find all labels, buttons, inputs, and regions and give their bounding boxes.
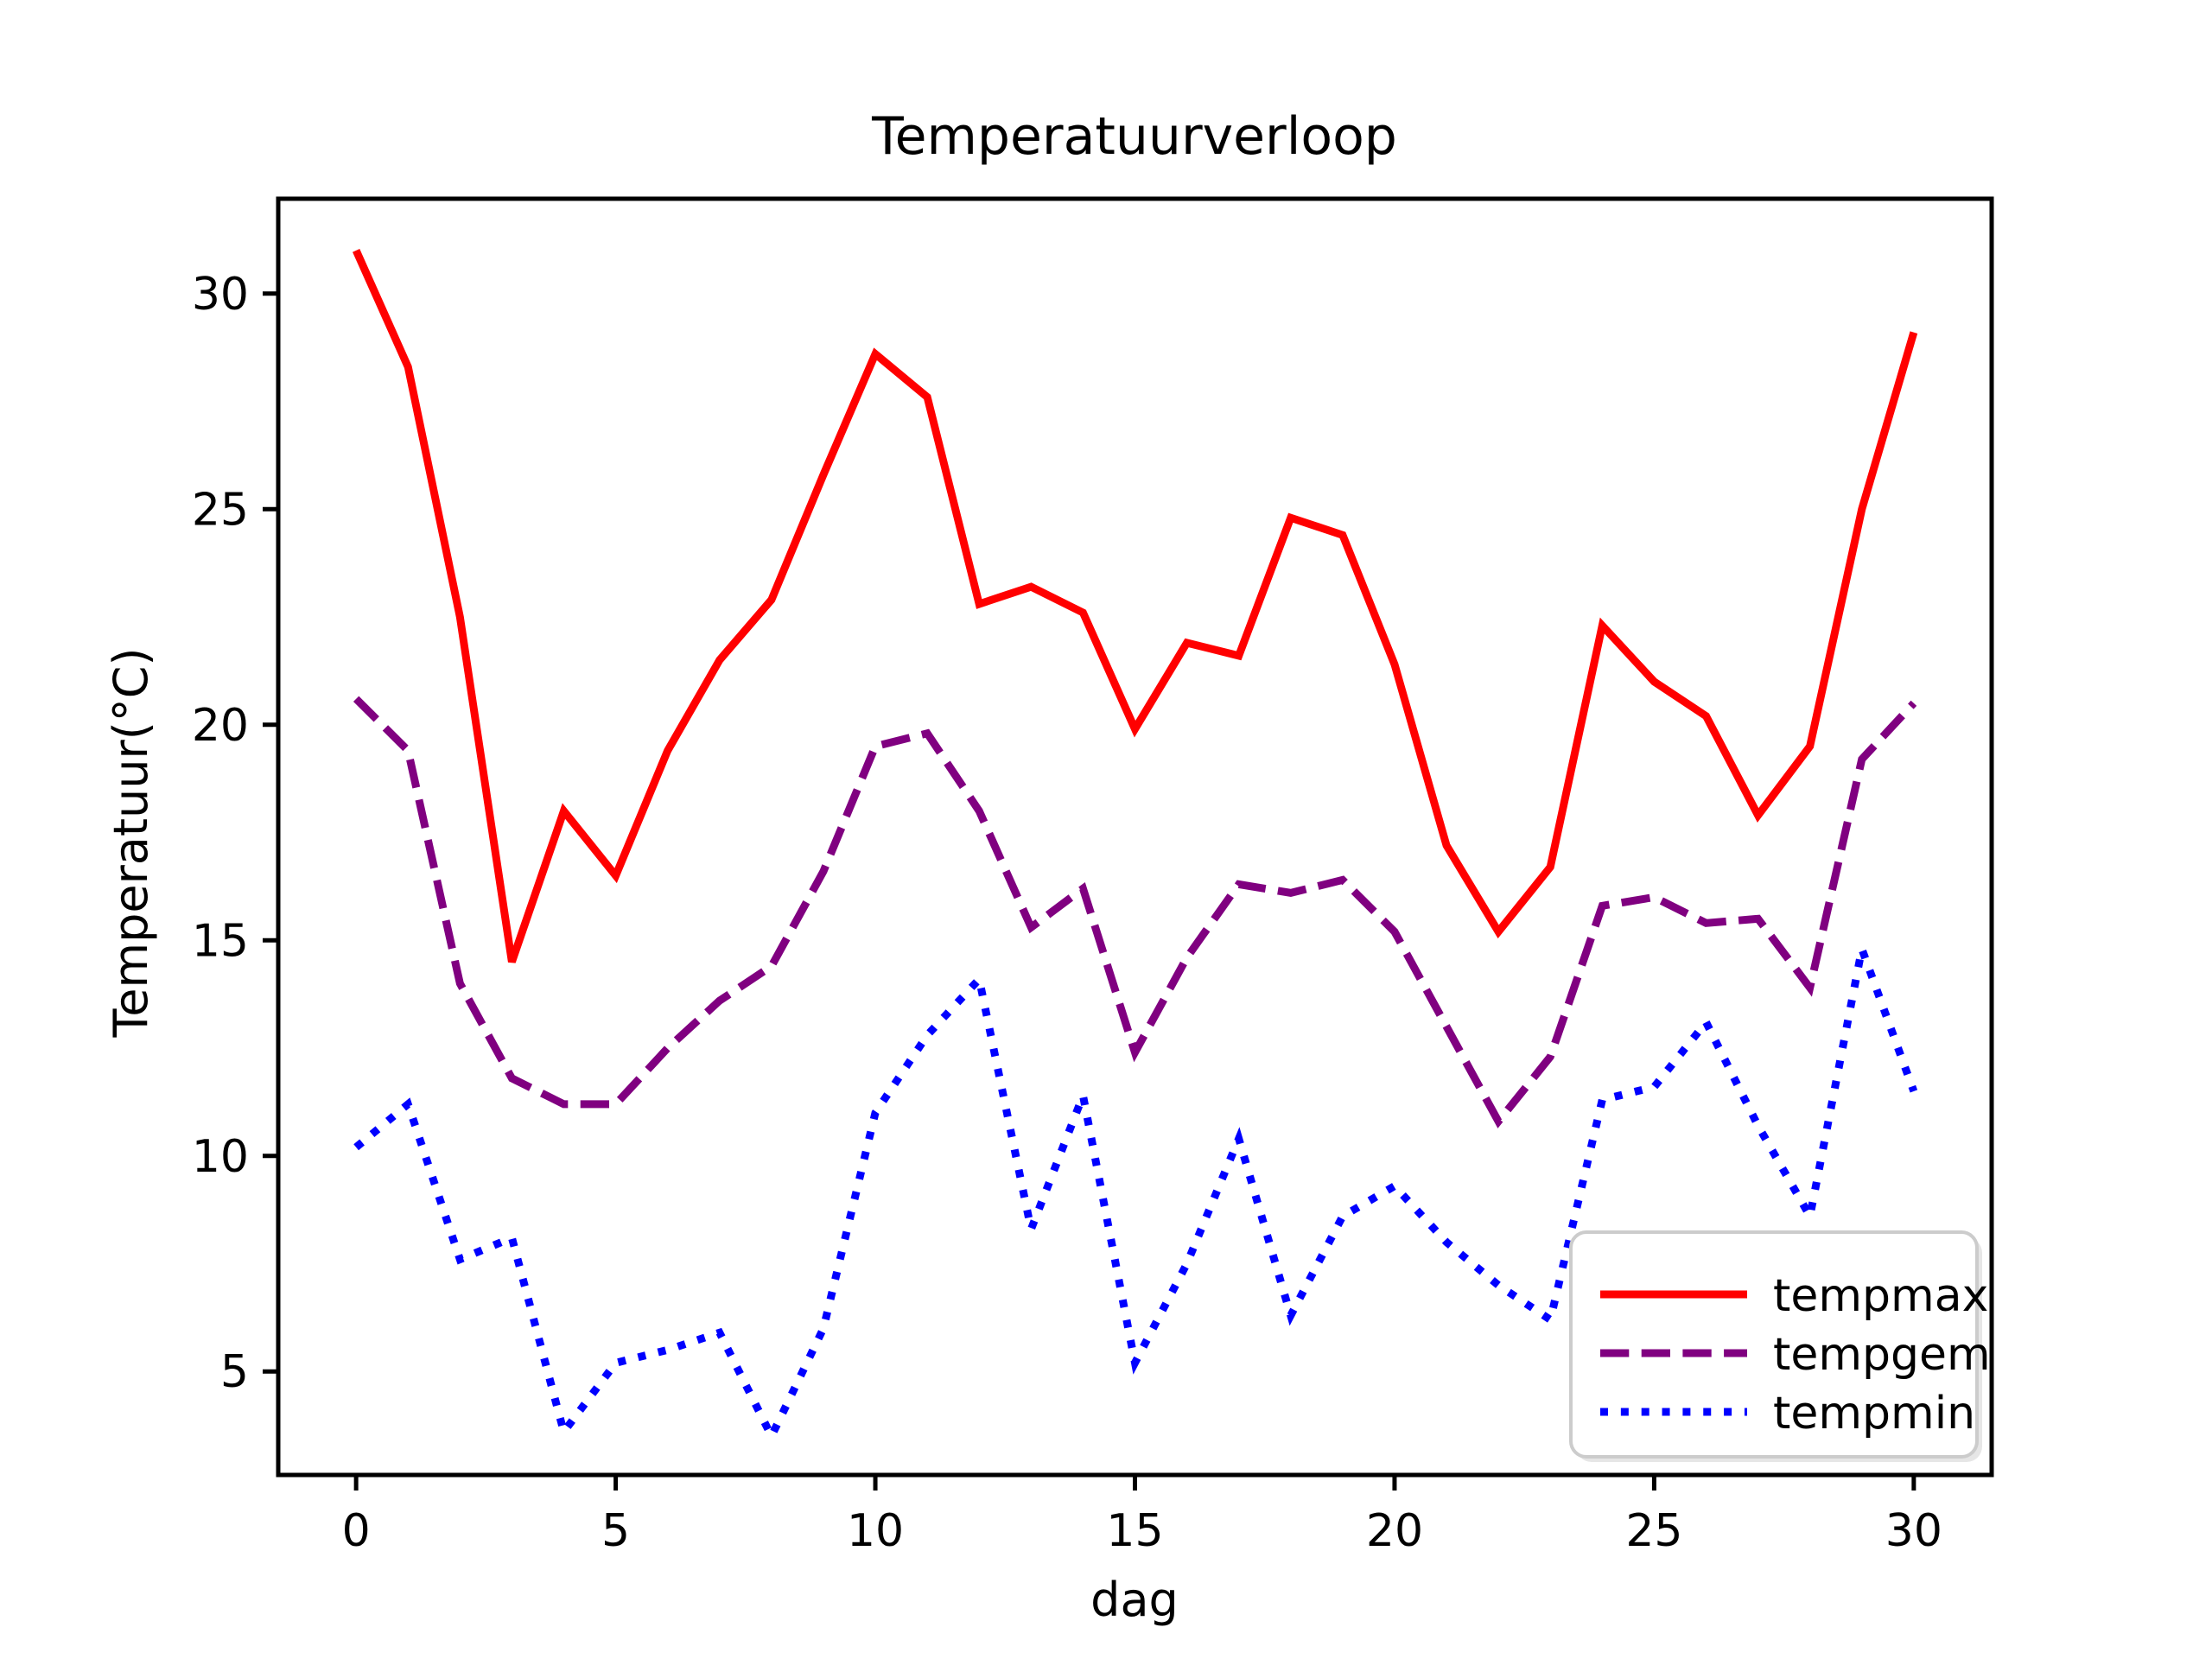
x-tick-label: 30 — [1885, 1505, 1942, 1557]
x-tick-label: 25 — [1625, 1505, 1682, 1557]
y-axis-ticks: 51015202530 — [192, 269, 278, 1398]
y-tick-label: 20 — [192, 700, 249, 752]
x-axis-label: dag — [1090, 1573, 1179, 1627]
legend-label-tempmin: tempmin — [1773, 1388, 1975, 1440]
x-tick-label: 5 — [601, 1505, 630, 1557]
x-tick-label: 15 — [1106, 1505, 1163, 1557]
chart-title: Temperatuurverloop — [871, 106, 1397, 167]
chart-legend[interactable]: tempmaxtempgemtempmin — [1571, 1232, 1991, 1462]
y-tick-label: 5 — [220, 1346, 249, 1398]
x-axis-ticks: 051015202530 — [342, 1475, 1942, 1557]
x-tick-label: 20 — [1366, 1505, 1423, 1557]
y-tick-label: 30 — [192, 269, 249, 321]
x-tick-label: 0 — [342, 1505, 371, 1557]
legend-label-tempgem: tempgem — [1773, 1329, 1991, 1381]
y-tick-label: 25 — [192, 484, 249, 536]
chart-plot: Temperatuurverloop Temperatuur(°C) dag 5… — [0, 0, 2212, 1659]
y-tick-label: 10 — [192, 1131, 249, 1183]
series-line-tempmax — [356, 251, 1914, 962]
x-tick-label: 10 — [847, 1505, 904, 1557]
series-line-tempgem — [356, 699, 1914, 1122]
y-tick-label: 15 — [192, 915, 249, 967]
legend-label-tempmax: tempmax — [1773, 1270, 1988, 1322]
y-axis-label: Temperatuur(°C) — [104, 647, 158, 1038]
figure-canvas: Temperatuurverloop Temperatuur(°C) dag 5… — [0, 0, 2212, 1659]
